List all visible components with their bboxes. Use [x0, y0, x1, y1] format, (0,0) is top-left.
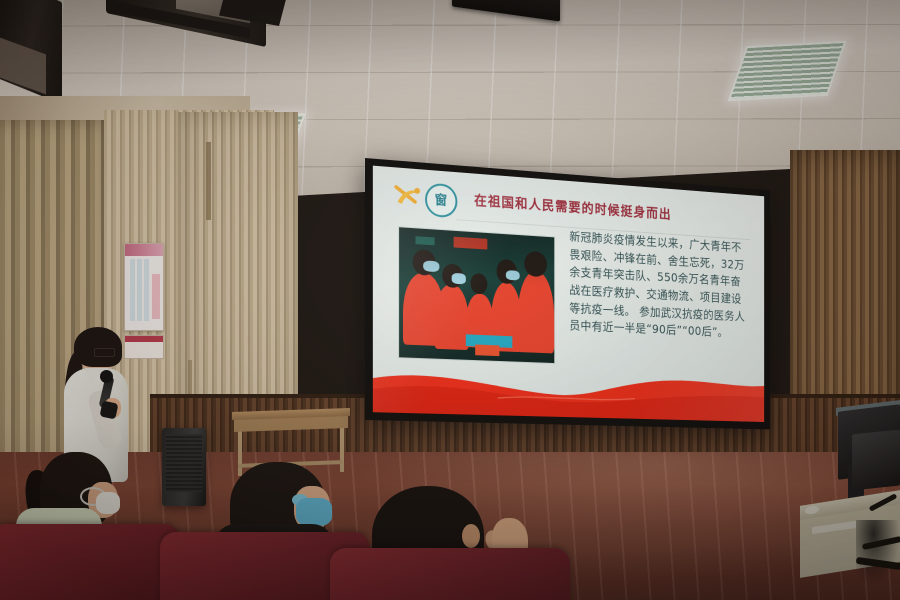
microphone-head — [100, 370, 113, 383]
cable-bundle — [856, 520, 900, 588]
pa-speaker-cabinet — [162, 428, 206, 506]
slide-photo-vignette — [399, 228, 554, 364]
wall-poster-column — [144, 259, 149, 321]
table-leg — [238, 428, 242, 476]
wall-seam — [206, 142, 211, 220]
left-wall-slat-panel-secondary — [178, 112, 298, 442]
slide-photo — [398, 226, 555, 364]
slide-body-text: 新冠肺炎疫情发生以来，广大青年不畏艰险、冲锋在前、舍生忘死，32万余支青年突击队… — [569, 228, 749, 342]
ceiling-light-panel-right — [728, 41, 847, 101]
party-emblem-logo — [394, 182, 423, 210]
presentation-room-photo: 窗 在祖国和人民需要的时候挺身而出 — [0, 0, 900, 600]
ribbon-wave — [373, 358, 764, 422]
audience-left-face-mask — [96, 492, 120, 514]
wall-poster — [124, 243, 164, 331]
badge-glyph: 窗 — [435, 194, 447, 208]
speaker-grille — [166, 434, 202, 492]
auditorium-seat — [0, 524, 180, 600]
audience-center-face-mask — [296, 498, 332, 526]
table-leg — [340, 424, 344, 472]
projection-screen[interactable]: 窗 在祖国和人民需要的时候挺身而出 — [373, 166, 764, 422]
microphone-grip — [100, 401, 119, 420]
wall-poster-column — [130, 259, 135, 321]
wall-poster-column — [137, 259, 142, 321]
slide-ribbon-graphic — [373, 358, 764, 422]
presenter-glasses — [94, 348, 115, 357]
projection-screen-frame: 窗 在祖国和人民需要的时候挺身而出 — [365, 158, 770, 429]
wall-poster-column-accent — [152, 274, 160, 319]
audience-right-ear — [462, 524, 480, 548]
control-desk-monitor-secondary[interactable] — [852, 429, 900, 490]
presenter-hair — [74, 327, 122, 367]
slide-title: 在祖国和人民需要的时候挺身而出 — [474, 189, 671, 222]
wall-poster-header — [125, 244, 163, 256]
auditorium-seat — [330, 548, 570, 600]
organization-badge-logo: 窗 — [425, 183, 457, 219]
